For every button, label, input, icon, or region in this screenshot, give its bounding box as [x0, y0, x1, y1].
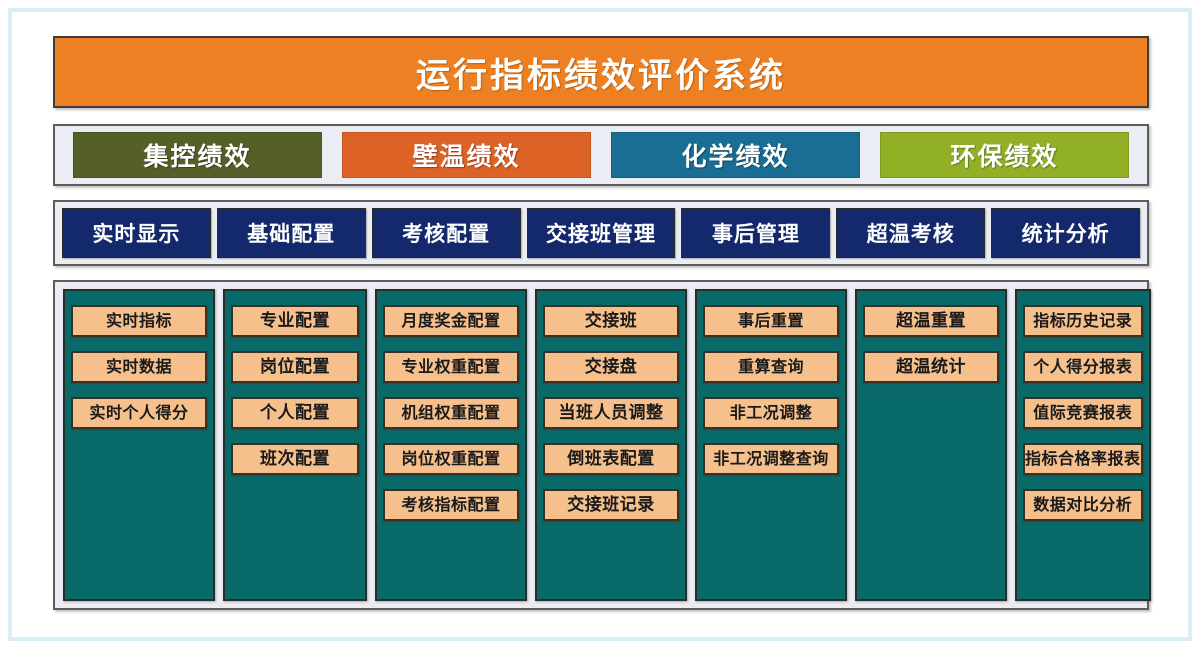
menu-item-button[interactable]: 专业配置: [231, 305, 359, 337]
menu-item-button[interactable]: 考核指标配置: [383, 489, 519, 521]
menu-item-button[interactable]: 交接班: [543, 305, 679, 337]
nav-tab-label: 统计分析: [1022, 218, 1110, 248]
menu-item-button[interactable]: 岗位权重配置: [383, 443, 519, 475]
nav-tab-label: 交接班管理: [546, 218, 656, 248]
menu-item-button[interactable]: 实时指标: [71, 305, 207, 337]
tab-basic-config[interactable]: 基础配置: [217, 208, 366, 258]
menu-item-button[interactable]: 交接班记录: [543, 489, 679, 521]
category-button-biwen[interactable]: 壁温绩效: [342, 132, 591, 178]
menu-item-button[interactable]: 月度奖金配置: [383, 305, 519, 337]
nav-tab-label: 事后管理: [712, 218, 800, 248]
menu-item-button[interactable]: 实时数据: [71, 351, 207, 383]
realtime-display-column: 实时指标实时数据实时个人得分: [63, 289, 215, 601]
category-label: 壁温绩效: [412, 137, 520, 173]
category-panel: 集控绩效 壁温绩效 化学绩效 环保绩效: [53, 124, 1149, 186]
menu-item-button[interactable]: 专业权重配置: [383, 351, 519, 383]
page-title: 运行指标绩效评价系统: [416, 48, 786, 97]
statistics-column: 指标历史记录个人得分报表值际竞赛报表指标合格率报表数据对比分析: [1015, 289, 1151, 601]
app-frame: 运行指标绩效评价系统 集控绩效 壁温绩效 化学绩效 环保绩效: [8, 8, 1192, 641]
menu-item-button[interactable]: 班次配置: [231, 443, 359, 475]
menu-item-button[interactable]: 实时个人得分: [71, 397, 207, 429]
nav-tab-label: 实时显示: [92, 218, 180, 248]
menu-item-button[interactable]: 非工况调整查询: [703, 443, 839, 475]
page-title-bar: 运行指标绩效评价系统: [53, 36, 1149, 108]
menu-item-button[interactable]: 非工况调整: [703, 397, 839, 429]
menu-item-button[interactable]: 重算查询: [703, 351, 839, 383]
nav-tab-label: 基础配置: [247, 218, 335, 248]
menu-item-button[interactable]: 交接盘: [543, 351, 679, 383]
tab-statistics[interactable]: 统计分析: [991, 208, 1140, 258]
category-label: 集控绩效: [143, 137, 251, 173]
shift-handover-column: 交接班交接盘当班人员调整倒班表配置交接班记录: [535, 289, 687, 601]
tab-assessment-config[interactable]: 考核配置: [372, 208, 521, 258]
menu-item-button[interactable]: 指标历史记录: [1023, 305, 1143, 337]
menu-item-button[interactable]: 指标合格率报表: [1023, 443, 1143, 475]
category-button-huaxue[interactable]: 化学绩效: [611, 132, 860, 178]
menu-item-button[interactable]: 个人得分报表: [1023, 351, 1143, 383]
menu-item-button[interactable]: 超温重置: [863, 305, 999, 337]
menu-item-button[interactable]: 事后重置: [703, 305, 839, 337]
nav-tab-row: 实时显示 基础配置 考核配置 交接班管理 事后管理 超温考核 统: [62, 208, 1140, 258]
app-inner: 运行指标绩效评价系统 集控绩效 壁温绩效 化学绩效 环保绩效: [36, 28, 1164, 620]
tab-shift-handover[interactable]: 交接班管理: [527, 208, 676, 258]
tab-post-event[interactable]: 事后管理: [681, 208, 830, 258]
menu-item-button[interactable]: 当班人员调整: [543, 397, 679, 429]
menu-item-button[interactable]: 超温统计: [863, 351, 999, 383]
overtemp-column: 超温重置超温统计: [855, 289, 1007, 601]
nav-tab-panel: 实时显示 基础配置 考核配置 交接班管理 事后管理 超温考核 统: [53, 200, 1149, 266]
content-column-row: 实时指标实时数据实时个人得分专业配置岗位配置个人配置班次配置月度奖金配置专业权重…: [63, 289, 1139, 601]
tab-realtime-display[interactable]: 实时显示: [62, 208, 211, 258]
category-button-huanbao[interactable]: 环保绩效: [880, 132, 1129, 178]
category-button-row: 集控绩效 壁温绩效 化学绩效 环保绩效: [63, 132, 1139, 178]
menu-item-button[interactable]: 岗位配置: [231, 351, 359, 383]
nav-tab-label: 超温考核: [867, 218, 955, 248]
menu-item-button[interactable]: 机组权重配置: [383, 397, 519, 429]
basic-config-column: 专业配置岗位配置个人配置班次配置: [223, 289, 367, 601]
tab-overtemp[interactable]: 超温考核: [836, 208, 985, 258]
menu-item-button[interactable]: 个人配置: [231, 397, 359, 429]
menu-item-button[interactable]: 值际竞赛报表: [1023, 397, 1143, 429]
category-label: 环保绩效: [950, 137, 1058, 173]
menu-item-button[interactable]: 倒班表配置: [543, 443, 679, 475]
content-panel: 实时指标实时数据实时个人得分专业配置岗位配置个人配置班次配置月度奖金配置专业权重…: [53, 280, 1149, 610]
category-button-jikong[interactable]: 集控绩效: [73, 132, 322, 178]
post-event-column: 事后重置重算查询非工况调整非工况调整查询: [695, 289, 847, 601]
category-label: 化学绩效: [681, 137, 789, 173]
nav-tab-label: 考核配置: [402, 218, 490, 248]
menu-item-button[interactable]: 数据对比分析: [1023, 489, 1143, 521]
assessment-config-column: 月度奖金配置专业权重配置机组权重配置岗位权重配置考核指标配置: [375, 289, 527, 601]
